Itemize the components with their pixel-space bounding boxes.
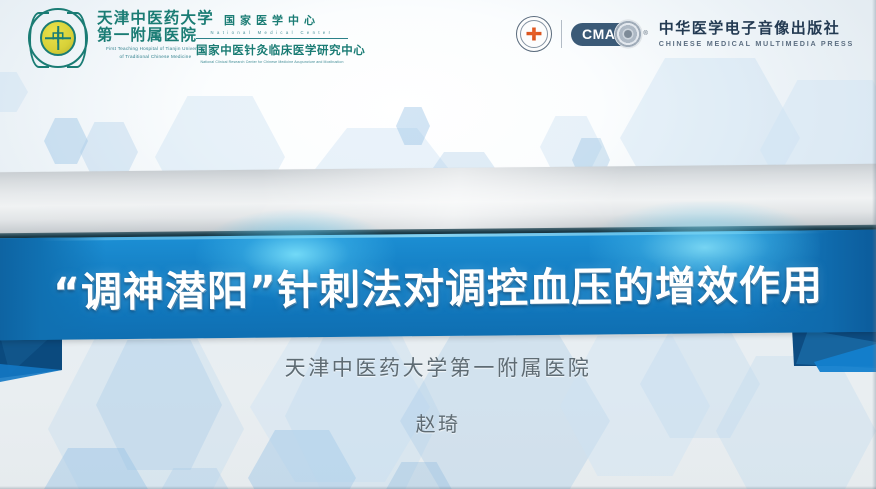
hospital-logo: 中 天津中医药大学 第一附属医院 First Teaching Hospital…: [28, 8, 214, 68]
research-center-en: National Clinical Research Center for Ch…: [196, 60, 348, 64]
banner-glow-left: [195, 208, 396, 300]
subtitle-block: 天津中医药大学第一附属医院 赵琦: [0, 352, 876, 437]
national-center-logo: 国家医学中心 National Medical Center 国家中医针灸临床医…: [196, 12, 348, 64]
slide-edge-right: [872, 0, 876, 489]
publisher-name-en: CHINESE MEDICAL MULTIMEDIA PRESS: [659, 39, 854, 48]
organization-name: 天津中医药大学第一附属医院: [0, 352, 876, 382]
publisher-logo: CMA ® 中华医学电子音像出版社 CHINESE MEDICAL MULTIM…: [516, 16, 854, 52]
presentation-slide: 中 天津中医药大学 第一附属医院 First Teaching Hospital…: [0, 0, 876, 489]
title-banner: [0, 230, 876, 341]
national-center-en: National Medical Center: [196, 30, 348, 35]
presenter-name: 赵琦: [0, 408, 876, 437]
compact-disc-icon: [614, 20, 642, 48]
cma-seal-icon: [516, 16, 552, 52]
logo-divider: [561, 20, 562, 48]
banner-glow-right: [589, 200, 820, 294]
publisher-name-cn: 中华医学电子音像出版社: [659, 20, 854, 37]
emblem-glyph: 中: [51, 32, 64, 45]
registered-mark: ®: [643, 31, 647, 37]
research-center-cn: 国家中医针灸临床医学研究中心: [196, 42, 348, 58]
university-emblem-icon: 中: [28, 8, 88, 68]
logo-strip: 中 天津中医药大学 第一附属医院 First Teaching Hospital…: [0, 0, 876, 80]
national-center-cn: 国家医学中心: [196, 12, 348, 28]
logo-divider: [196, 38, 348, 39]
cma-wordmark: CMA ®: [571, 20, 648, 48]
